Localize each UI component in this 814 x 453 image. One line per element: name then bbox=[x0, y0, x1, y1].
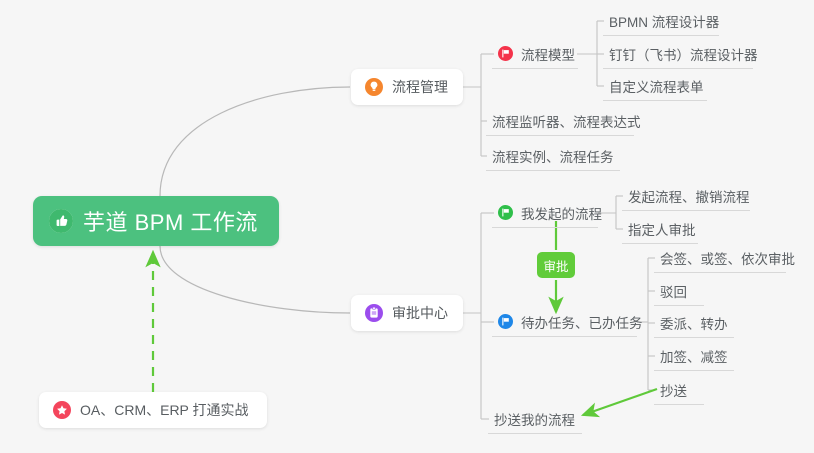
node-dingtalk-feishu-designer[interactable]: 钉钉（飞书）流程设计器 bbox=[603, 39, 753, 69]
node-reject[interactable]: 驳回 bbox=[654, 276, 704, 306]
lightbulb-icon bbox=[365, 78, 383, 96]
node-custom-process-form[interactable]: 自定义流程表单 bbox=[603, 71, 707, 101]
bottom-card-integration[interactable]: OA、CRM、ERP 打通实战 bbox=[39, 392, 267, 428]
branch-node-approval-center[interactable]: 审批中心 bbox=[351, 295, 463, 331]
node-label-bpmn-designer: BPMN 流程设计器 bbox=[609, 11, 719, 31]
node-label-custom-process-form: 自定义流程表单 bbox=[609, 76, 704, 96]
node-delegate-transfer[interactable]: 委派、转办 bbox=[654, 308, 734, 338]
star-icon bbox=[53, 401, 71, 419]
node-my-initiated-process[interactable]: 我发起的流程 bbox=[492, 198, 598, 228]
root-label: 芋道 BPM 工作流 bbox=[83, 205, 258, 237]
node-countersign-orsign-sequential[interactable]: 会签、或签、依次审批 bbox=[654, 243, 786, 273]
node-label-process-listener-expression: 流程监听器、流程表达式 bbox=[492, 111, 641, 131]
node-label-process-model: 流程模型 bbox=[521, 44, 575, 64]
node-label-add-remove-sign: 加签、减签 bbox=[660, 346, 728, 366]
node-label-process-instance-task: 流程实例、流程任务 bbox=[492, 146, 614, 166]
branch-label-process-management: 流程管理 bbox=[392, 77, 448, 97]
node-process-listener-expression[interactable]: 流程监听器、流程表达式 bbox=[486, 106, 634, 136]
node-bpmn-designer[interactable]: BPMN 流程设计器 bbox=[603, 6, 719, 36]
node-label-todo-done-task: 待办任务、已办任务 bbox=[521, 312, 643, 332]
root-node[interactable]: 芋道 BPM 工作流 bbox=[33, 196, 279, 246]
thumbs-up-icon bbox=[49, 209, 73, 233]
connector-root-to-approval-center bbox=[160, 246, 350, 313]
node-process-instance-task[interactable]: 流程实例、流程任务 bbox=[486, 141, 620, 171]
approval-center-connectors bbox=[463, 213, 494, 419]
bottom-card-label: OA、CRM、ERP 打通实战 bbox=[80, 400, 249, 420]
node-process-model[interactable]: 流程模型 bbox=[492, 39, 578, 69]
node-label-start-cancel-process: 发起流程、撤销流程 bbox=[628, 186, 750, 206]
node-label-delegate-transfer: 委派、转办 bbox=[660, 313, 728, 333]
flag-icon bbox=[498, 46, 513, 61]
node-label-cc: 抄送 bbox=[660, 380, 687, 400]
process-model-connectors bbox=[577, 21, 604, 86]
annotation-tag-approval-label: 审批 bbox=[543, 256, 568, 275]
node-label-cc-to-me-process: 抄送我的流程 bbox=[494, 409, 575, 429]
node-label-countersign-orsign-sequential: 会签、或签、依次审批 bbox=[660, 248, 795, 268]
arrow-cc-to-cc-to-me bbox=[583, 389, 657, 415]
clipboard-icon bbox=[365, 304, 383, 322]
node-cc-to-me-process[interactable]: 抄送我的流程 bbox=[488, 404, 582, 434]
branch-label-approval-center: 审批中心 bbox=[392, 303, 448, 323]
mindmap-canvas: 芋道 BPM 工作流 流程管理 审批中心 bbox=[0, 0, 814, 453]
node-start-cancel-process[interactable]: 发起流程、撤销流程 bbox=[622, 181, 750, 211]
flag-icon bbox=[498, 314, 513, 329]
node-label-assignee-approval: 指定人审批 bbox=[628, 219, 696, 239]
branch-node-process-management[interactable]: 流程管理 bbox=[351, 69, 463, 105]
node-cc[interactable]: 抄送 bbox=[654, 375, 704, 405]
flag-icon bbox=[498, 205, 513, 220]
connector-root-to-process-management bbox=[160, 87, 350, 196]
node-todo-done-task[interactable]: 待办任务、已办任务 bbox=[492, 307, 637, 337]
node-label-my-initiated-process: 我发起的流程 bbox=[521, 203, 602, 223]
node-label-reject: 驳回 bbox=[660, 281, 687, 301]
node-label-dingtalk-feishu-designer: 钉钉（飞书）流程设计器 bbox=[609, 44, 758, 64]
annotation-tag-approval[interactable]: 审批 bbox=[537, 252, 575, 278]
node-add-remove-sign[interactable]: 加签、减签 bbox=[654, 341, 734, 371]
node-assignee-approval[interactable]: 指定人审批 bbox=[622, 214, 698, 244]
